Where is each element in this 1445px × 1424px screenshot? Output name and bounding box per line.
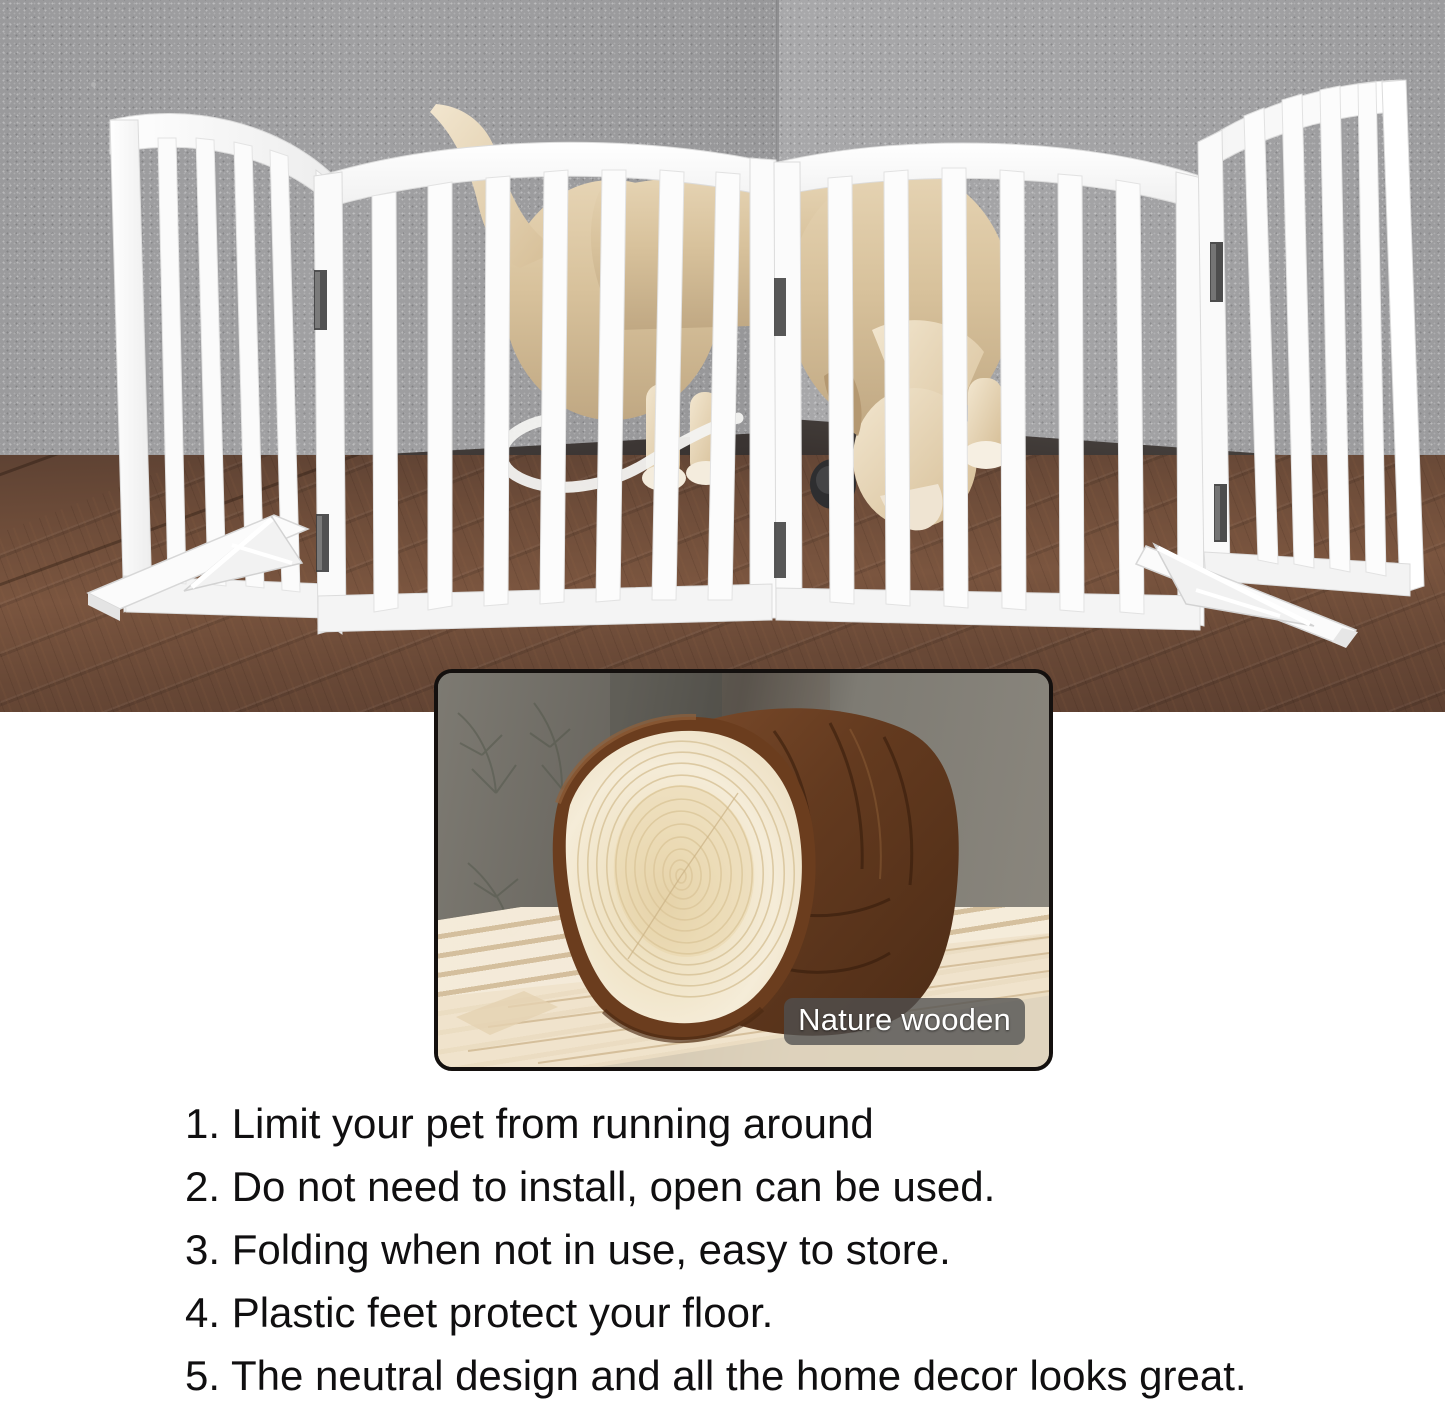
feature-list: 1. Limit your pet from running around 2.…	[185, 1092, 1425, 1407]
nature-wooden-badge: Nature wooden	[784, 998, 1025, 1045]
feature-item-3: 3. Folding when not in use, easy to stor…	[185, 1218, 1425, 1281]
pet-gate-in-room-photo	[0, 0, 1445, 712]
gate-panel-2	[298, 118, 788, 648]
nature-wooden-log-photo: Nature wooden	[434, 669, 1053, 1071]
feature-item-5: 5. The neutral design and all the home d…	[185, 1344, 1425, 1407]
support-foot-right	[1130, 520, 1410, 650]
feature-item-4: 4. Plastic feet protect your floor.	[185, 1281, 1425, 1344]
feature-item-2: 2. Do not need to install, open can be u…	[185, 1155, 1425, 1218]
feature-item-1: 1. Limit your pet from running around	[185, 1092, 1425, 1155]
